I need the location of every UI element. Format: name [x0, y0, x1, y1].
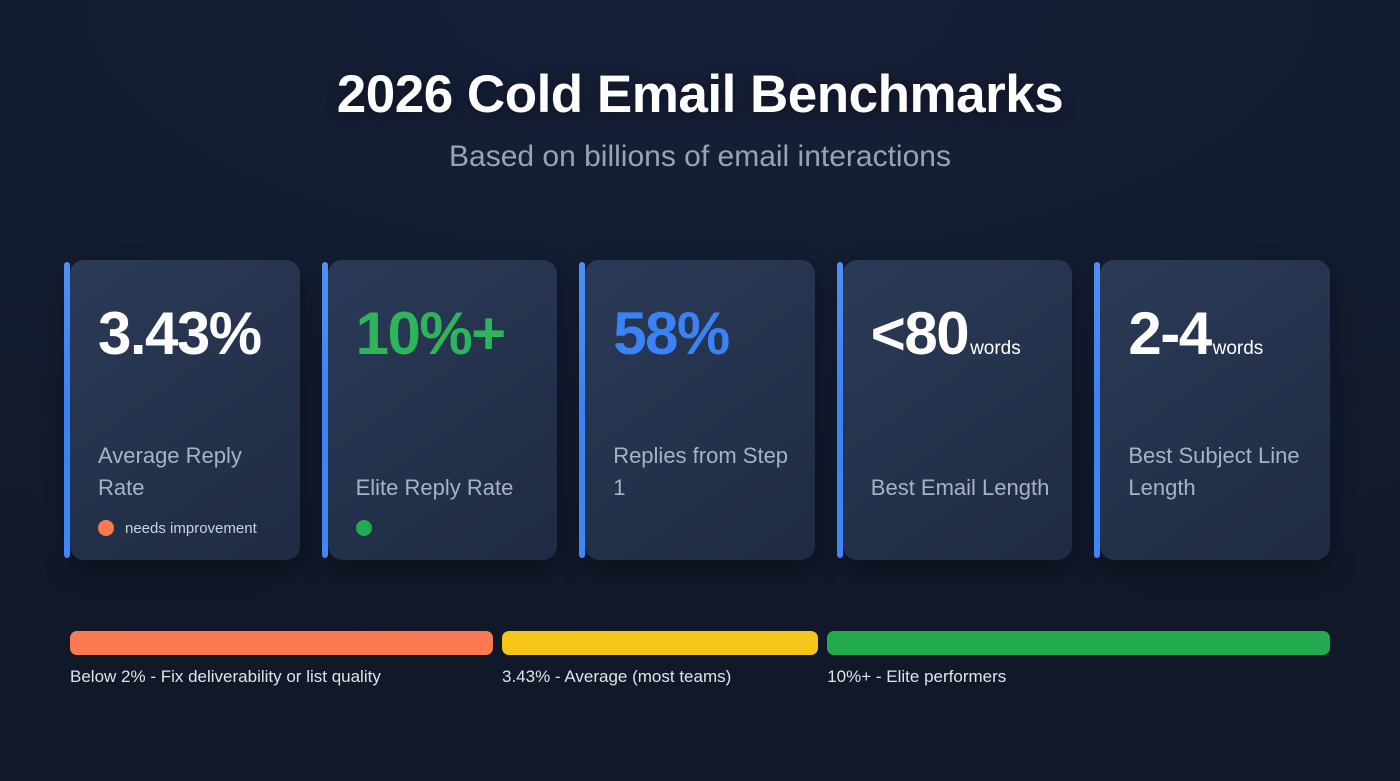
- badge-spacer: [613, 504, 793, 538]
- status-dot-icon: [98, 520, 114, 536]
- stat-suffix: words: [1213, 339, 1264, 358]
- legend-item-elite: 10%+ - Elite performers: [827, 631, 1330, 687]
- badge-spacer: [1128, 504, 1308, 538]
- page-subtitle: Based on billions of email interactions: [0, 140, 1400, 175]
- card-accent-bar: [1094, 262, 1100, 558]
- stat-value: 58%: [613, 304, 729, 364]
- stat-value-group: 3.43%: [98, 304, 278, 364]
- legend-label: 10%+ - Elite performers: [827, 667, 1330, 687]
- status-dot-icon: [356, 520, 372, 536]
- legend-item-average: 3.43% - Average (most teams): [502, 631, 818, 687]
- stat-suffix: words: [970, 339, 1021, 358]
- benchmark-legend: Below 2% - Fix deliverability or list qu…: [70, 631, 1330, 687]
- stat-value: 3.43%: [98, 304, 261, 364]
- stat-value-group: <80 words: [871, 304, 1051, 364]
- legend-label: 3.43% - Average (most teams): [502, 667, 818, 687]
- badge-spacer: [871, 504, 1051, 538]
- stat-value: 2-4: [1128, 304, 1210, 364]
- page-title: 2026 Cold Email Benchmarks: [0, 66, 1400, 123]
- status-badge: needs improvement: [98, 518, 278, 538]
- header: 2026 Cold Email Benchmarks Based on bill…: [0, 0, 1400, 175]
- legend-bar: [70, 631, 493, 655]
- card-accent-bar: [837, 262, 843, 558]
- legend-bar: [827, 631, 1330, 655]
- stat-cards-row: 3.43% Average Reply Rate needs improveme…: [70, 260, 1330, 560]
- card-accent-bar: [322, 262, 328, 558]
- status-badge-label: needs improvement: [125, 520, 257, 537]
- infographic-canvas: 2026 Cold Email Benchmarks Based on bill…: [0, 0, 1400, 781]
- status-badge: [356, 518, 536, 538]
- legend-bar: [502, 631, 818, 655]
- stat-label: Replies from Step 1: [613, 440, 793, 504]
- legend-item-below-2: Below 2% - Fix deliverability or list qu…: [70, 631, 493, 687]
- stat-value: 10%+: [356, 304, 505, 364]
- stat-label: Best Subject Line Length: [1128, 440, 1308, 504]
- stat-value-group: 10%+: [356, 304, 536, 364]
- stat-value: <80: [871, 304, 968, 364]
- stat-label: Average Reply Rate: [98, 440, 278, 504]
- stat-card-average-reply-rate[interactable]: 3.43% Average Reply Rate needs improveme…: [70, 260, 300, 560]
- stat-value-group: 2-4 words: [1128, 304, 1308, 364]
- stat-card-best-subject-line-length[interactable]: 2-4 words Best Subject Line Length: [1100, 260, 1330, 560]
- stat-card-replies-from-step-1[interactable]: 58% Replies from Step 1: [585, 260, 815, 560]
- card-accent-bar: [579, 262, 585, 558]
- legend-label: Below 2% - Fix deliverability or list qu…: [70, 667, 493, 687]
- stat-label: Best Email Length: [871, 472, 1051, 504]
- stat-value-group: 58%: [613, 304, 793, 364]
- stat-label: Elite Reply Rate: [356, 472, 536, 504]
- stat-card-elite-reply-rate[interactable]: 10%+ Elite Reply Rate: [328, 260, 558, 560]
- card-accent-bar: [64, 262, 70, 558]
- stat-card-best-email-length[interactable]: <80 words Best Email Length: [843, 260, 1073, 560]
